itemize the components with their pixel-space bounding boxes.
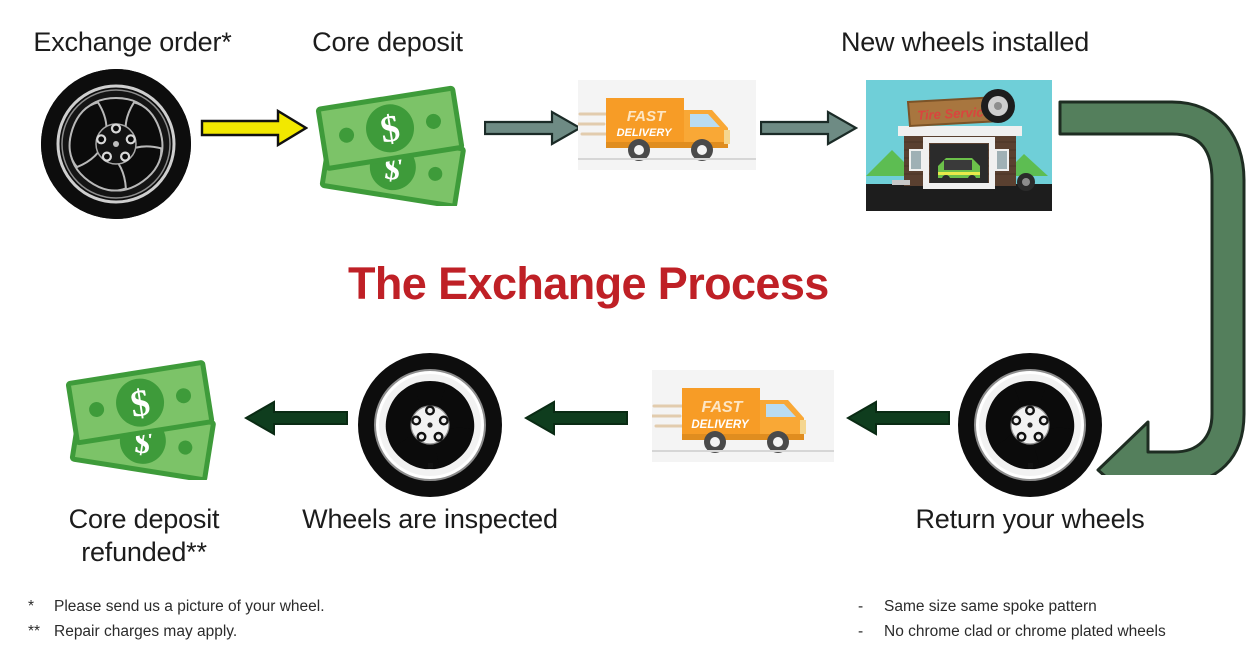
- label-new-wheels-installed: New wheels installed: [805, 26, 1125, 59]
- bullet-mark: -: [858, 619, 884, 644]
- footnotes-right: - Same size same spoke pattern - No chro…: [858, 594, 1166, 644]
- label-return-your-wheels: Return your wheels: [900, 503, 1160, 536]
- footnote-left-1: * Please send us a picture of your wheel…: [28, 594, 325, 619]
- truck-text-fast: FAST: [627, 108, 667, 125]
- money-stack-icon: $ $: [58, 352, 230, 480]
- wheel-light-icon: [957, 352, 1103, 498]
- label-wheels-are-inspected: Wheels are inspected: [295, 503, 565, 536]
- footnote-text: Please send us a picture of your wheel.: [54, 594, 325, 619]
- delivery-truck-icon: FAST DELIVERY: [578, 80, 756, 170]
- truck-text-delivery: DELIVERY: [617, 127, 673, 139]
- footnote-right-2: - No chrome clad or chrome plated wheels: [858, 619, 1166, 644]
- arrow-right-icon: [484, 110, 582, 146]
- footnote-right-1: - Same size same spoke pattern: [858, 594, 1166, 619]
- footnote-mark: *: [28, 594, 54, 619]
- bullet-mark: -: [858, 594, 884, 619]
- label-exchange-order: Exchange order*: [10, 26, 255, 59]
- exchange-process-diagram: Exchange order* Core deposit New wheels …: [0, 0, 1250, 666]
- label-core-deposit-refunded: Core deposit refunded**: [28, 503, 260, 569]
- arrow-left-icon: [244, 400, 348, 436]
- label-core-deposit: Core deposit: [285, 26, 490, 59]
- footnote-mark: **: [28, 619, 54, 644]
- footnote-text: No chrome clad or chrome plated wheels: [884, 619, 1166, 644]
- arrow-left-icon: [846, 400, 950, 436]
- footnote-left-2: ** Repair charges may apply.: [28, 619, 325, 644]
- arrow-left-icon: [524, 400, 628, 436]
- footnote-text: Repair charges may apply.: [54, 619, 237, 644]
- arrow-right-icon: [760, 110, 858, 146]
- truck-text-fast: FAST: [702, 399, 744, 416]
- wheel-dark-icon: [40, 68, 192, 220]
- arrow-right-icon: [200, 108, 308, 148]
- delivery-truck-icon: FAST DELIVERY: [652, 370, 834, 462]
- tire-service-shop-icon: Tire Service: [866, 80, 1052, 211]
- money-stack-icon: $ $: [310, 76, 475, 206]
- footnotes-left: * Please send us a picture of your wheel…: [28, 594, 325, 644]
- footnote-text: Same size same spoke pattern: [884, 594, 1097, 619]
- page-title: The Exchange Process: [348, 258, 829, 310]
- wheel-light-icon: [357, 352, 503, 498]
- truck-text-delivery: DELIVERY: [691, 419, 750, 431]
